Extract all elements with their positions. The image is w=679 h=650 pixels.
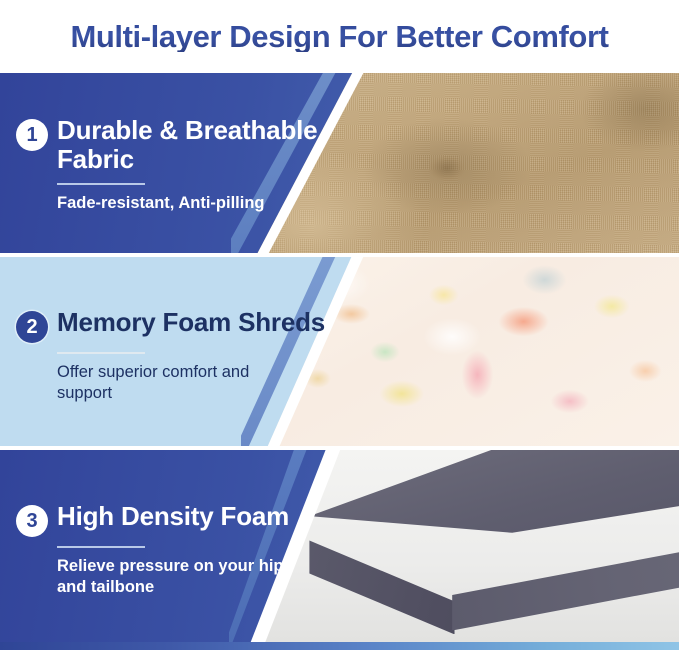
panel-3-content: 3 High Density Foam Relieve pressure on … bbox=[16, 450, 336, 642]
feature-panel-3: 3 High Density Foam Relieve pressure on … bbox=[0, 450, 679, 642]
title-bar: Multi-layer Design For Better Comfort bbox=[0, 0, 679, 72]
feature-panel-1: 1 Durable & Breathable Fabric Fade-resis… bbox=[0, 73, 679, 253]
panel-1-heading: Durable & Breathable Fabric bbox=[57, 116, 336, 174]
panel-3-divider bbox=[57, 546, 145, 548]
bottom-accent-strip bbox=[0, 642, 679, 650]
panel-2-heading: Memory Foam Shreds bbox=[57, 308, 325, 337]
product-feature-infographic: Multi-layer Design For Better Comfort 1 … bbox=[0, 0, 679, 650]
panel-1-content: 1 Durable & Breathable Fabric Fade-resis… bbox=[16, 73, 336, 253]
panel-3-heading-row: 3 High Density Foam bbox=[16, 502, 336, 537]
step-badge-2: 2 bbox=[16, 311, 48, 343]
panel-2-heading-row: 2 Memory Foam Shreds bbox=[16, 308, 336, 343]
panel-1-heading-row: 1 Durable & Breathable Fabric bbox=[16, 116, 336, 174]
page-title: Multi-layer Design For Better Comfort bbox=[70, 21, 608, 52]
panel-1-divider bbox=[57, 183, 145, 185]
feature-panel-2: 2 Memory Foam Shreds Offer superior comf… bbox=[0, 257, 679, 447]
step-badge-3: 3 bbox=[16, 505, 48, 537]
panel-2-divider bbox=[57, 352, 145, 354]
step-badge-1: 1 bbox=[16, 119, 48, 151]
foam-block-top-face bbox=[309, 450, 679, 561]
panel-2-content: 2 Memory Foam Shreds Offer superior comf… bbox=[16, 257, 336, 447]
panel-3-subtext: Relieve pressure on your hips and tailbo… bbox=[57, 556, 307, 598]
panel-3-heading: High Density Foam bbox=[57, 502, 289, 531]
panel-1-subtext: Fade-resistant, Anti-pilling bbox=[57, 193, 307, 214]
panel-2-subtext: Offer superior comfort and support bbox=[57, 362, 307, 404]
